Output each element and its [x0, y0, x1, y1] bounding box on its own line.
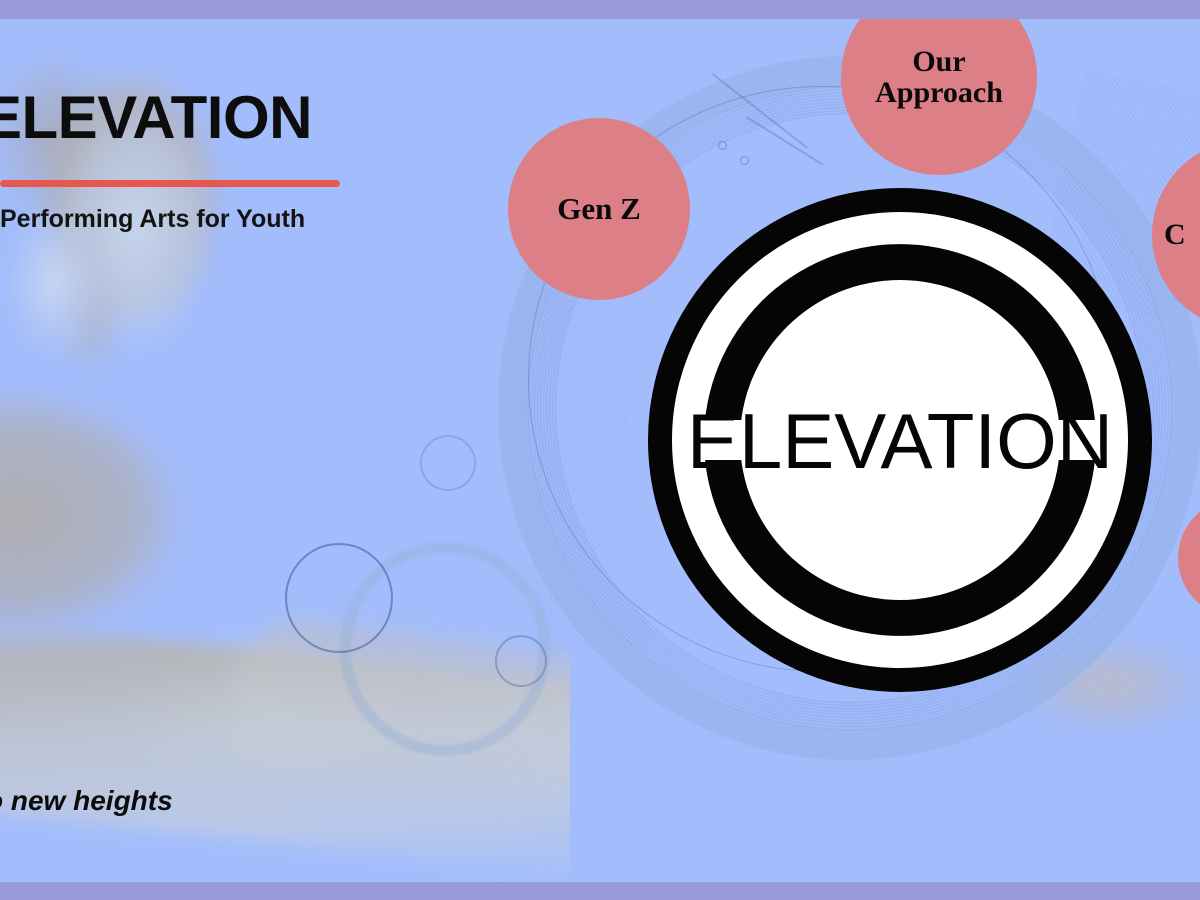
page-subtitle: Performing Arts for Youth	[0, 205, 340, 234]
topic-bubble-our-approach-line2: Approach	[875, 77, 1003, 109]
page-title: ELEVATION	[0, 88, 340, 148]
halo-node-a	[718, 141, 727, 150]
title-accent-rule	[0, 180, 340, 187]
topic-bubble-creative-label: C	[1164, 219, 1186, 251]
topic-bubble-gen-z-label: Gen Z	[557, 193, 641, 226]
frame-band-bottom	[0, 882, 1200, 900]
halo-node-b	[740, 156, 749, 165]
prezi-slide-canvas[interactable]: ELEVATION Performing Arts for Youth o ne…	[0, 0, 1200, 900]
topic-bubble-our-approach-line1: Our	[875, 46, 1003, 78]
title-block: ELEVATION Performing Arts for Youth	[0, 88, 340, 234]
elevation-logo[interactable]: ELEVATION	[648, 188, 1152, 692]
tagline: o new heights	[0, 785, 173, 817]
frame-band-top	[0, 0, 1200, 19]
logo-wordmark: ELEVATION	[687, 397, 1113, 485]
topic-bubble-gen-z[interactable]: Gen Z	[508, 118, 690, 300]
